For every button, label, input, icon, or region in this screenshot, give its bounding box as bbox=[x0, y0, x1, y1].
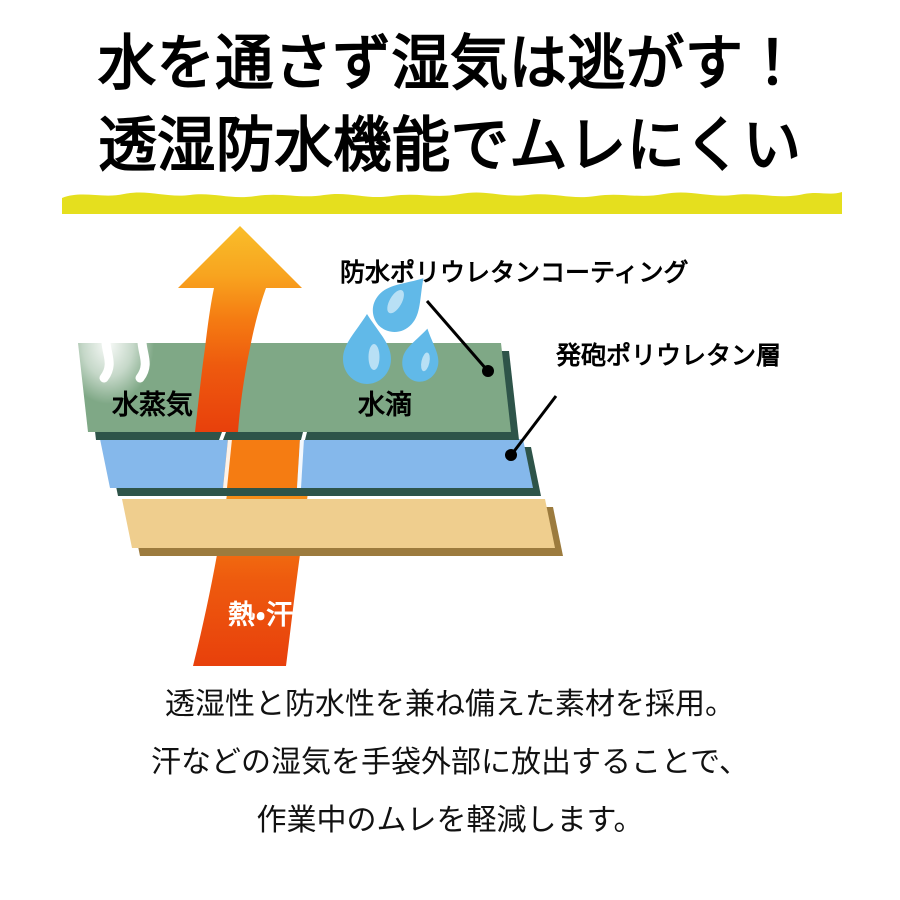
headline-line-1: 水を通さず湿気は逃がす！ bbox=[14, 34, 887, 94]
infographic-page: 水を通さず湿気は逃がす！ 透湿防水機能でムレにくい bbox=[0, 0, 900, 900]
description-line-1: 透湿性と防水性を兼ね備えた素材を採用。 bbox=[0, 676, 900, 734]
arrow-piece-through-blue bbox=[223, 439, 304, 488]
headline-underline-band bbox=[62, 188, 842, 214]
callout-dot-foam bbox=[505, 449, 517, 461]
headline-line-2: 透湿防水機能でムレにくい bbox=[14, 116, 887, 176]
headline-block: 水を通さず湿気は逃がす！ 透湿防水機能でムレにくい bbox=[0, 20, 900, 200]
description-block: 透湿性と防水性を兼ね備えた素材を採用。 汗などの湿気を手袋外部に放出することで、… bbox=[0, 676, 900, 850]
label-heat-sweat: 熱・汗 bbox=[228, 602, 294, 629]
description-line-3: 作業中のムレを軽減します。 bbox=[0, 792, 900, 850]
label-water-droplet: 水滴 bbox=[358, 392, 412, 419]
layer-foamed-polyurethane bbox=[100, 439, 541, 496]
callout-label-waterproof-coating: 防水ポリウレタンコーティング bbox=[340, 261, 689, 286]
steam-wisp-group bbox=[62, 284, 154, 404]
label-water-vapor: 水蒸気 bbox=[112, 392, 193, 419]
description-line-2: 汗などの湿気を手袋外部に放出することで、 bbox=[0, 734, 900, 792]
layer-base-fabric bbox=[122, 499, 563, 556]
callout-dot-coating bbox=[482, 365, 494, 377]
layer-structure-diagram: 水蒸気 水滴 熱・汗 防水ポリウレタンコーティング 発砲ポリウレタン層 bbox=[0, 226, 900, 666]
callout-label-foamed-layer: 発砲ポリウレタン層 bbox=[556, 344, 781, 369]
